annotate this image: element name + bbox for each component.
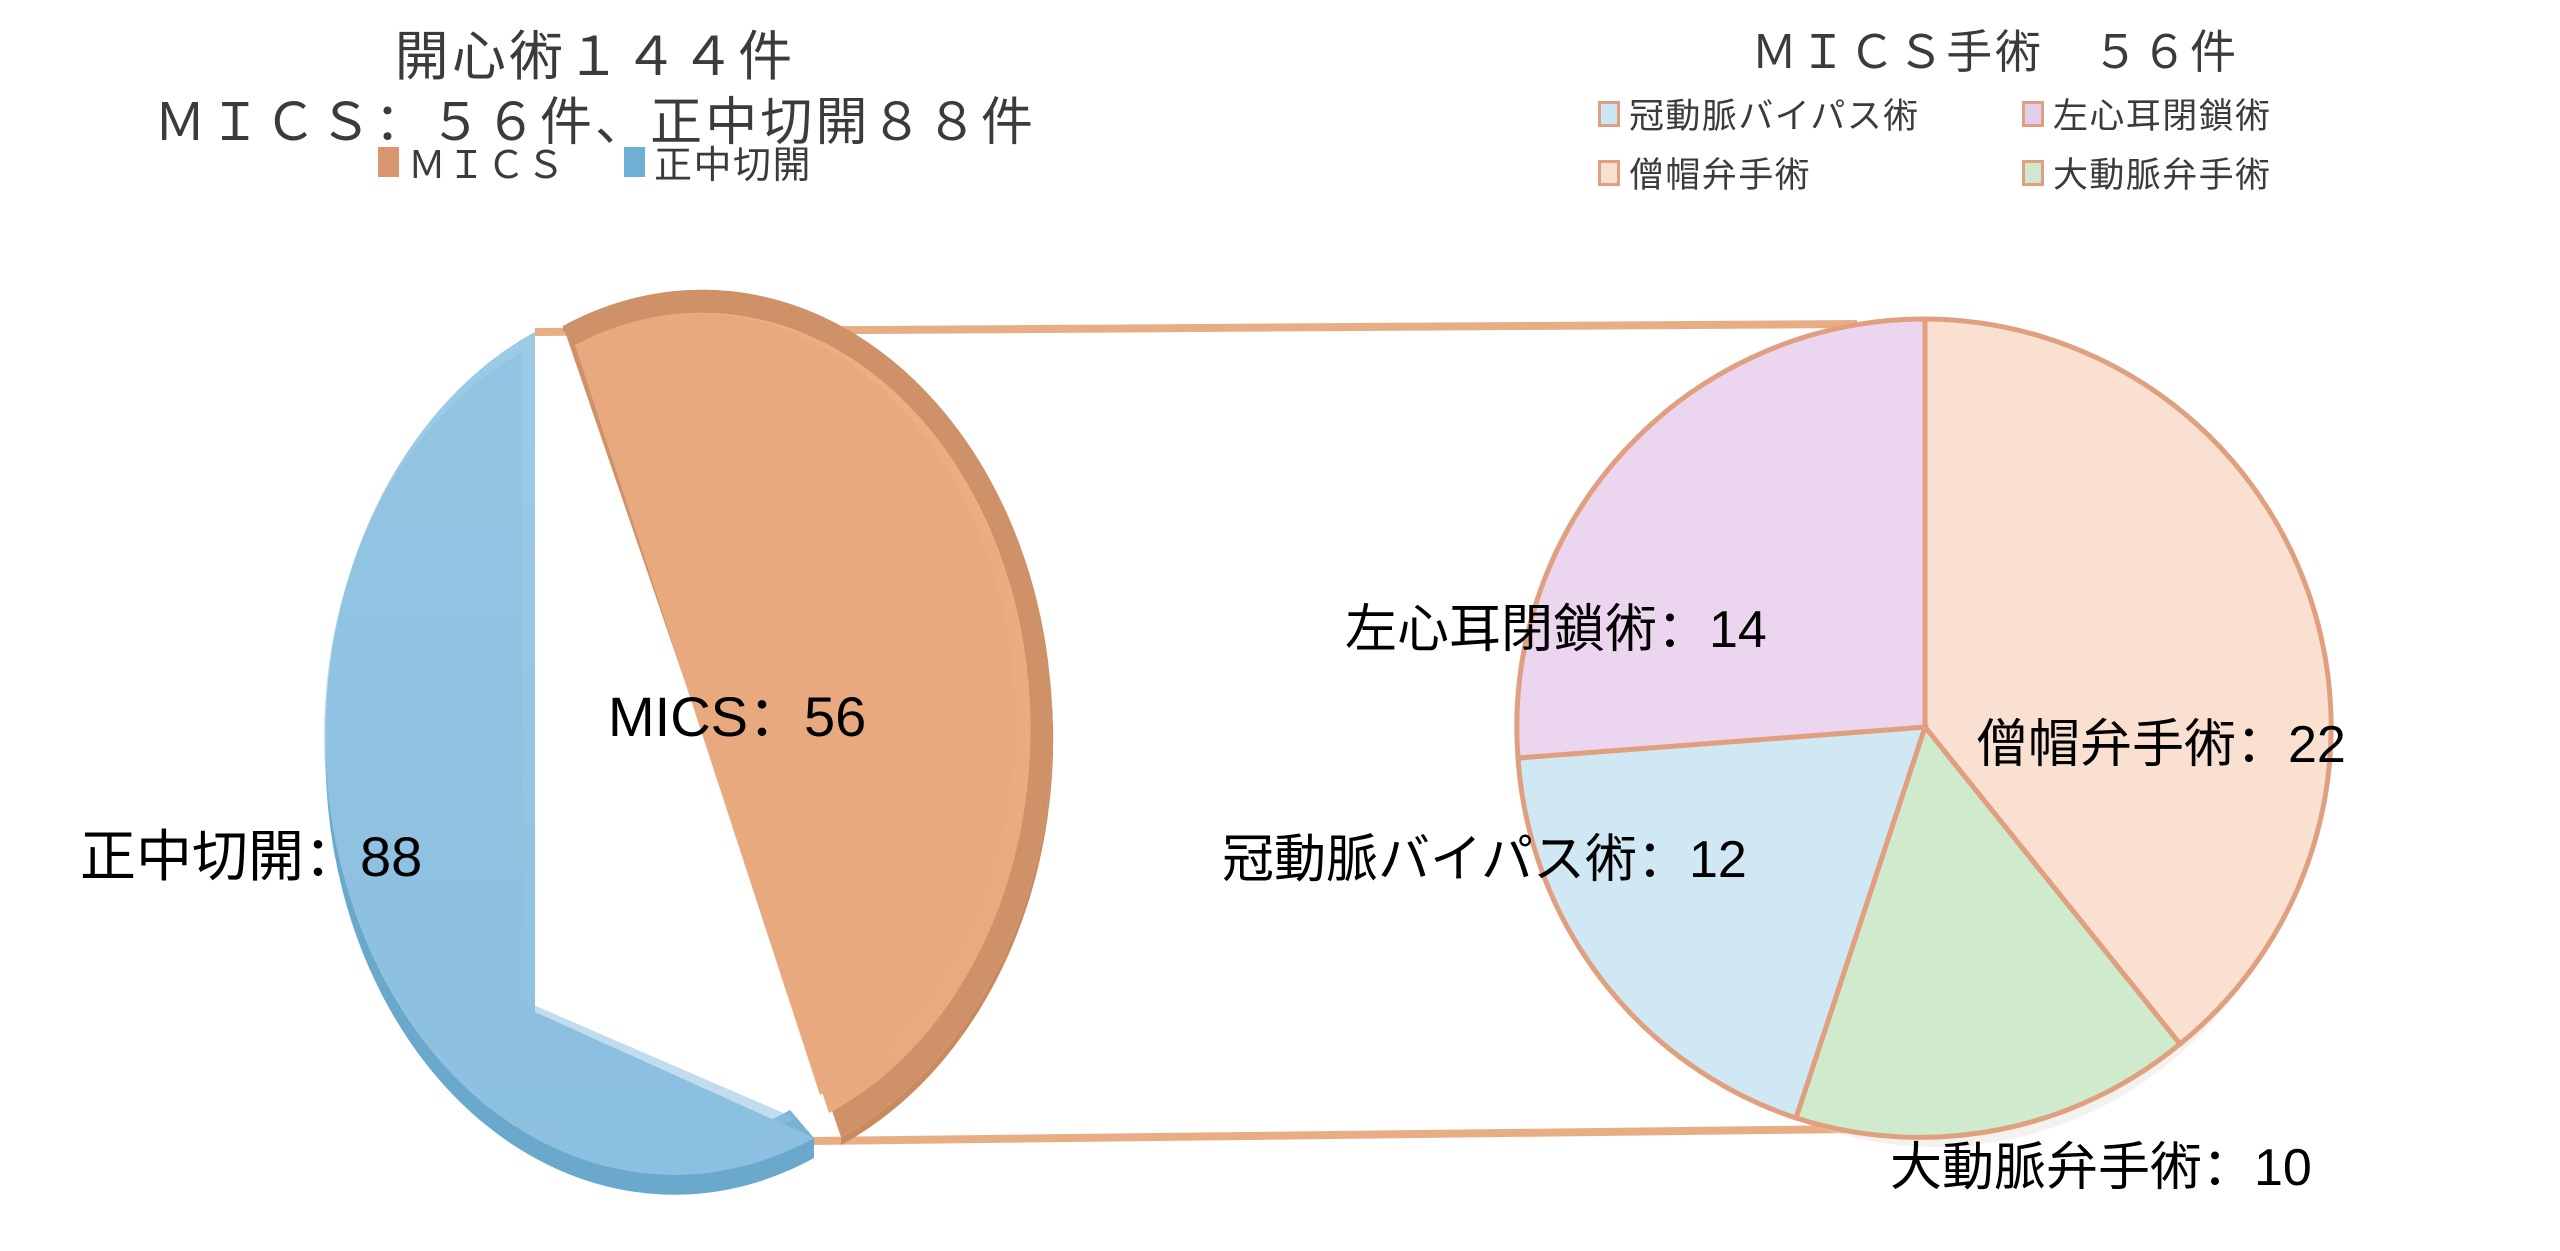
data-label-left-atrial-appendage: 左心耳閉鎖術：14 [1345,587,1767,662]
legend-item-mics[interactable]: ＭＩＣＳ [378,134,566,189]
legend-item-left-atrial-appendage[interactable]: 左心耳閉鎖術 [2022,88,2402,139]
data-label-aortic: 大動脈弁手術：10 [1890,1125,2312,1200]
legend-label-aortic: 大動脈弁手術 [2053,147,2271,198]
pie-slice-left-atrial-appendage[interactable] [1517,319,1925,758]
data-label-median-sternotomy: 正中切開：88 [80,812,422,893]
legend-label-left-atrial-appendage: 左心耳閉鎖術 [2053,88,2271,139]
legend-swatch-mitral [1598,160,1620,186]
data-label-cabg: 冠動脈バイパス術：12 [1222,817,1747,892]
left-chart-legend: ＭＩＣＳ 正中切開 [0,134,1190,189]
legend-label-mics: ＭＩＣＳ [408,134,566,189]
legend-swatch-cabg [1598,101,1620,127]
legend-row-2: 僧帽弁手術 大動脈弁手術 [1440,147,2560,198]
legend-swatch-aortic [2022,160,2044,186]
legend-swatch-left-atrial-appendage [2022,101,2044,127]
legend-row-1: 冠動脈バイパス術 左心耳閉鎖術 [1440,88,2560,139]
legend-swatch-median-sternotomy [624,147,645,177]
legend-label-cabg: 冠動脈バイパス術 [1629,88,1920,139]
legend-item-cabg[interactable]: 冠動脈バイパス術 [1598,88,1978,139]
legend-item-median-sternotomy[interactable]: 正中切開 [624,134,812,189]
right-chart-legend: 冠動脈バイパス術 左心耳閉鎖術 僧帽弁手術 大動脈弁手術 [1440,88,2560,206]
legend-swatch-mics [378,147,399,177]
data-label-mics: MICS：56 [608,672,866,753]
legend-label-median-sternotomy: 正中切開 [654,134,812,189]
legend-item-aortic[interactable]: 大動脈弁手術 [2022,147,2402,198]
data-label-mitral: 僧帽弁手術：22 [1976,702,2346,777]
right-chart-title: ＭＩＣＳ手術 ５６件 [1440,16,2550,82]
legend-item-mitral[interactable]: 僧帽弁手術 [1598,147,1978,198]
legend-label-mitral: 僧帽弁手術 [1629,147,1811,198]
